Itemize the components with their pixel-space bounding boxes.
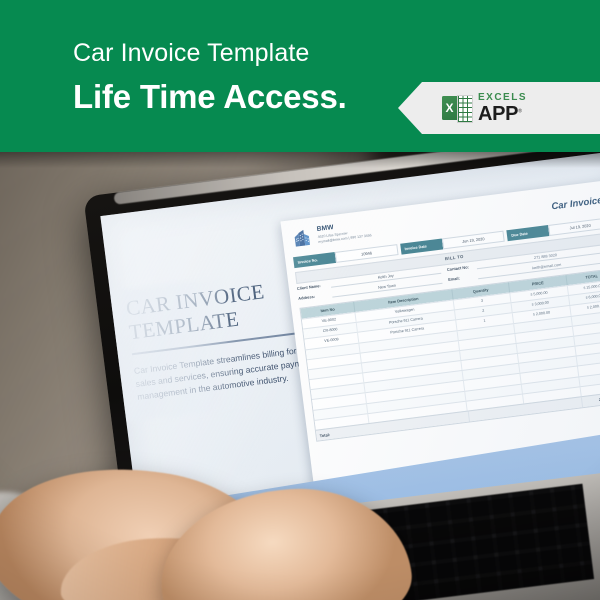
- excel-icon-grid-panel: [457, 95, 473, 123]
- email-label: Email:: [448, 274, 478, 283]
- logo-word-excels: EXCELS: [478, 93, 527, 103]
- due-date-label: Due Date: [507, 225, 550, 241]
- excels-app-logo[interactable]: X EXCELS APP®: [442, 93, 527, 124]
- building-icon: [291, 227, 314, 250]
- green-header-banner: Car Invoice Template Life Time Access. X…: [0, 0, 600, 152]
- invoice-no-label: Invoice No.: [293, 252, 336, 268]
- excel-icon-letter: X: [445, 101, 453, 115]
- invoice-date-label: Invoice Date: [400, 238, 443, 254]
- excel-file-icon: X: [442, 95, 471, 121]
- promo-banner-image: CAR INVOICE TEMPLATE Car Invoice Templat…: [0, 0, 600, 600]
- address-label: Address:: [298, 292, 332, 301]
- logo-word-app-text: APP: [478, 103, 518, 125]
- invoice-doc-title: Car Invoice: [551, 195, 600, 213]
- excel-icon-letter-panel: X: [442, 96, 457, 120]
- logo-word-app: APP®: [478, 104, 527, 124]
- logo-trademark: ®: [518, 108, 521, 114]
- logo-callout: X EXCELS APP®: [398, 82, 600, 134]
- banner-subheadline: Life Time Access.: [73, 78, 347, 116]
- banner-headline: Car Invoice Template: [73, 39, 309, 68]
- logo-wordmark: EXCELS APP®: [478, 93, 527, 124]
